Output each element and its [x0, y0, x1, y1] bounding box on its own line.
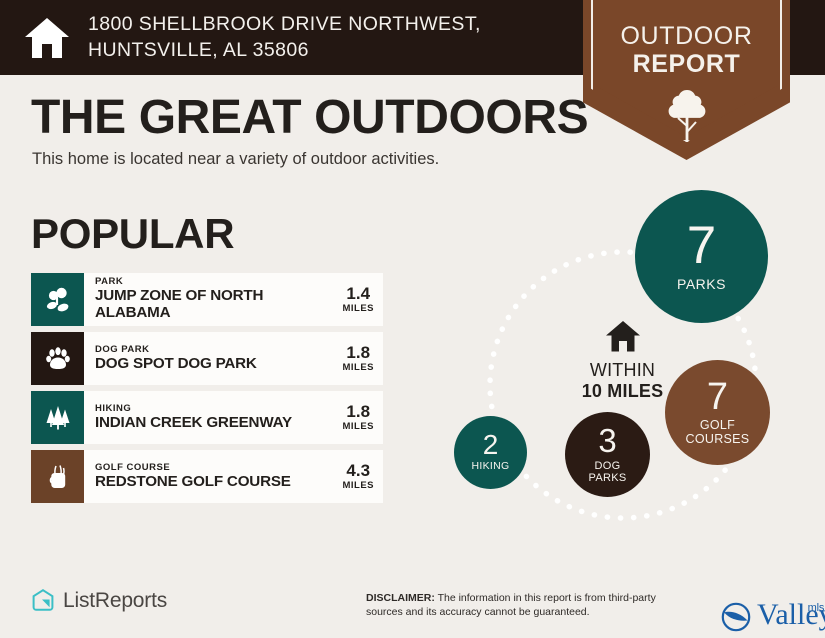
stat-label-line2: COURSES: [686, 433, 750, 447]
page-subtitle: This home is located near a variety of o…: [32, 150, 439, 169]
valley-circle-swoosh-icon: [718, 600, 756, 632]
listreports-logo-text: ListReports: [63, 589, 167, 613]
list-item-body: PARK JUMP ZONE OF NORTH ALABAMA: [84, 273, 338, 326]
list-item-distance: 1.8 MILES: [338, 391, 383, 444]
stat-label: DOG PARKS: [589, 460, 627, 484]
badge-title-line2: REPORT: [583, 50, 790, 78]
list-item[interactable]: HIKING INDIAN CREEK GREENWAY 1.8 MILES: [31, 391, 383, 444]
stat-value: 7: [707, 379, 728, 415]
stat-circle-hiking[interactable]: 2 HIKING: [454, 416, 527, 489]
stat-label-line2: PARKS: [589, 472, 627, 484]
home-icon: [605, 320, 641, 353]
list-item-body: GOLF COURSE REDSTONE GOLF COURSE: [84, 450, 338, 503]
distance-unit: MILES: [342, 303, 374, 314]
property-address: 1800 SHELLBROOK DRIVE NORTHWEST, HUNTSVI…: [88, 12, 558, 63]
listreports-logo[interactable]: ListReports: [31, 588, 167, 613]
stat-value: 3: [598, 425, 616, 456]
list-item-name: DOG SPOT DOG PARK: [95, 355, 338, 372]
diagram-center: WITHIN 10 MILES: [550, 320, 695, 401]
list-item-name: REDSTONE GOLF COURSE: [95, 473, 338, 490]
listreports-house-tag-icon: [31, 588, 55, 613]
disclaimer-label: DISCLAIMER:: [366, 592, 435, 604]
mls-domain-text: mls.com: [808, 602, 825, 614]
list-item-body: DOG PARK DOG SPOT DOG PARK: [84, 332, 338, 385]
stat-label: PARKS: [677, 277, 726, 292]
within-10-miles-diagram: 7 PARKS 7 GOLF COURSES 3 DOG PARKS 2 HIK…: [420, 175, 825, 555]
center-line2: 10 MILES: [550, 381, 695, 402]
list-item-distance: 4.3 MILES: [338, 450, 383, 503]
page-title: THE GREAT OUTDOORS: [31, 94, 588, 142]
golf-bag-icon: [31, 450, 84, 503]
park-tree-icon: [31, 273, 84, 326]
list-item-name: JUMP ZONE OF NORTH ALABAMA: [95, 288, 338, 321]
disclaimer: DISCLAIMER: The information in this repo…: [366, 592, 684, 620]
valley-mls-logo[interactable]: Valley mls.com: [718, 600, 825, 632]
stat-value: 2: [483, 432, 499, 459]
distance-value: 1.8: [346, 344, 370, 362]
stat-label-line1: GOLF: [686, 419, 750, 433]
badge-title-line1: OUTDOOR: [621, 22, 753, 50]
pine-trees-icon: [31, 391, 84, 444]
badge-title: OUTDOOR REPORT: [583, 22, 790, 78]
distance-value: 1.8: [346, 403, 370, 421]
list-item-distance: 1.8 MILES: [338, 332, 383, 385]
distance-unit: MILES: [342, 480, 374, 491]
list-item-body: HIKING INDIAN CREEK GREENWAY: [84, 391, 338, 444]
list-item-category: HIKING: [95, 404, 338, 415]
list-item-distance: 1.4 MILES: [338, 273, 383, 326]
stat-value: 7: [687, 221, 716, 271]
popular-list: PARK JUMP ZONE OF NORTH ALABAMA 1.4 MILE…: [31, 273, 383, 509]
paw-print-icon: [31, 332, 84, 385]
list-item[interactable]: DOG PARK DOG SPOT DOG PARK 1.8 MILES: [31, 332, 383, 385]
stat-label: GOLF COURSES: [686, 419, 750, 447]
distance-unit: MILES: [342, 421, 374, 432]
stat-circle-dog-parks[interactable]: 3 DOG PARKS: [565, 412, 650, 497]
section-title-popular: POPULAR: [31, 213, 234, 255]
distance-value: 4.3: [346, 462, 370, 480]
center-line1: WITHIN: [550, 361, 695, 381]
stat-label-line1: DOG: [589, 460, 627, 472]
stat-label: HIKING: [472, 461, 510, 473]
outdoor-report-badge: OUTDOOR REPORT: [583, 0, 790, 160]
distance-value: 1.4: [346, 285, 370, 303]
list-item[interactable]: PARK JUMP ZONE OF NORTH ALABAMA 1.4 MILE…: [31, 273, 383, 326]
list-item-category: DOG PARK: [95, 345, 338, 356]
tree-icon: [664, 88, 710, 144]
list-item-name: INDIAN CREEK GREENWAY: [95, 414, 338, 431]
distance-unit: MILES: [342, 362, 374, 373]
list-item-category: GOLF COURSE: [95, 463, 338, 474]
list-item[interactable]: GOLF COURSE REDSTONE GOLF COURSE 4.3 MIL…: [31, 450, 383, 503]
home-icon: [24, 16, 70, 60]
stat-circle-parks[interactable]: 7 PARKS: [635, 190, 768, 323]
